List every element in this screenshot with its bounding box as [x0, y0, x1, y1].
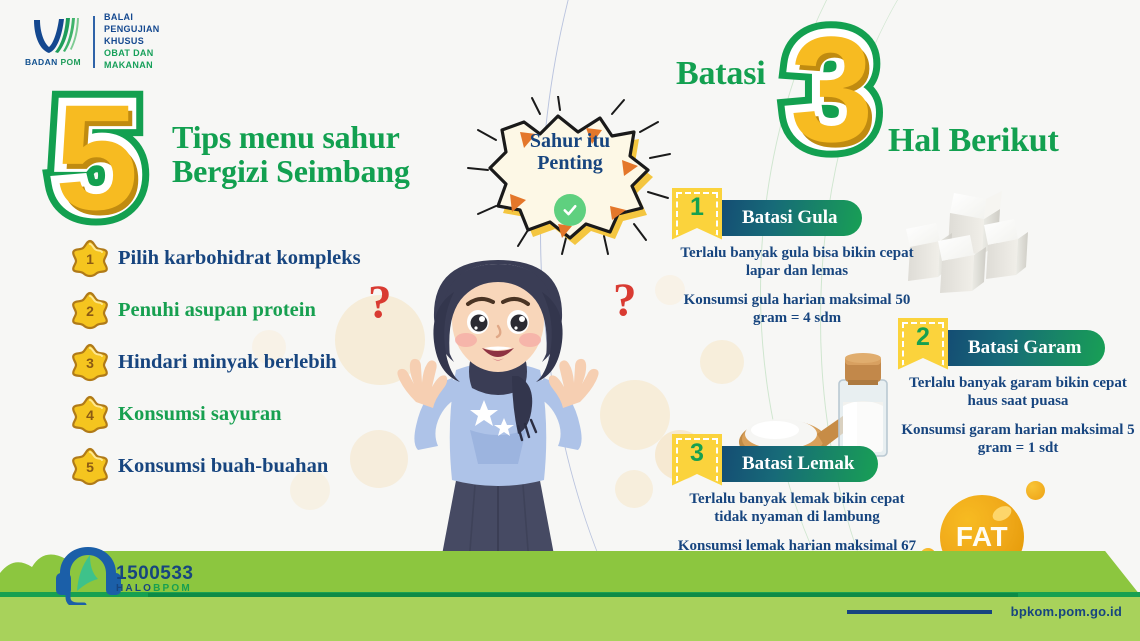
ribbon-number: 3 [690, 441, 704, 466]
limit-body-1: Terlalu banyak gula bisa bikin cepat lap… [672, 245, 922, 327]
star-badge-number: 5 [70, 446, 110, 486]
organization-name: BALAI PENGUJIAN KHUSUS OBAT DAN MAKANAN [104, 12, 160, 71]
left-headline-line-2: Bergizi Seimbang [172, 155, 472, 189]
limit-body-2: Terlalu banyak garam bikin cepat haus sa… [898, 375, 1138, 457]
tip-label: Penuhi asupan protein [118, 299, 316, 322]
star-badge-number: 3 [70, 342, 110, 382]
website-url[interactable]: bpkom.pom.go.id [1011, 604, 1122, 619]
limit-body-text-a: Terlalu banyak garam bikin cepat haus sa… [898, 375, 1138, 410]
big-three-fill: 3 [790, 20, 873, 158]
org-line-4: OBAT DAN [104, 48, 160, 60]
tip-item-4: 4 Konsumsi sayuran [70, 388, 400, 440]
limit-block-1: 1 Batasi Gula Terlalu banyak gula bisa b… [672, 200, 922, 327]
right-headline-after: Hal Berikut [888, 122, 1059, 160]
star-badge-number: 2 [70, 290, 110, 330]
limit-banner-1: 1 Batasi Gula [672, 200, 922, 236]
ribbon-badge-1: 1 [672, 188, 722, 240]
left-headline-line-1: Tips menu sahur [172, 121, 472, 155]
logo-caption-pom: POM [60, 57, 81, 67]
org-line-5: MAKANAN [104, 60, 160, 72]
fat-bubble-small [1026, 481, 1045, 500]
green-rule [148, 593, 1018, 597]
tip-label: Pilih karbohidrat kompleks [118, 247, 361, 270]
footer: 1500533 HALOBPOM bpkom.pom.go.id [0, 536, 1140, 641]
check-circle-icon [554, 194, 586, 226]
logo-caption-badan: BADAN [25, 57, 58, 67]
logo-divider [93, 16, 95, 68]
limit-title-3: Batasi Lemak [716, 446, 878, 482]
hotline-word-halo: HALO [116, 583, 153, 594]
star-badge-icon: 5 [70, 446, 110, 486]
star-badge-number: 4 [70, 394, 110, 434]
limit-body-text-a: Terlalu banyak gula bisa bikin cepat lap… [672, 245, 922, 280]
tip-item-3: 3 Hindari minyak berlebih [70, 336, 400, 388]
org-line-2: PENGUJIAN [104, 24, 160, 36]
infographic-poster: BADAN POM BALAI PENGUJIAN KHUSUS OBAT DA… [0, 0, 1140, 641]
limit-banner-3: 3 Batasi Lemak [672, 446, 922, 482]
hotline-brand: HALOBPOM [116, 583, 192, 594]
tip-label: Konsumsi buah-buahan [118, 455, 328, 478]
limit-banner-2: 2 Batasi Garam [898, 330, 1138, 366]
limit-body-text-a: Terlalu banyak lemak bikin cepat tidak n… [672, 491, 922, 526]
bpom-logo-caption: BADAN POM [25, 57, 81, 67]
check-mark-icon [561, 201, 579, 219]
limit-body-text-b: Konsumsi garam harian maksimal 5 gram = … [898, 422, 1138, 457]
burst-text: Sahur itu Penting [462, 130, 678, 175]
limit-title-2: Batasi Garam [942, 330, 1105, 366]
bpom-logo-mark: BADAN POM [22, 16, 84, 67]
burst-shape-icon [462, 96, 678, 256]
ribbon-number: 1 [690, 195, 704, 220]
tip-item-2: 2 Penuhi asupan protein [70, 284, 400, 336]
bpom-logo: BADAN POM BALAI PENGUJIAN KHUSUS OBAT DA… [22, 12, 160, 71]
hotline-word-bpom: BPOM [153, 583, 192, 594]
org-line-3: KHUSUS [104, 36, 160, 48]
big-five-fill: 5 [55, 88, 138, 226]
right-headline-before: Batasi [676, 55, 765, 93]
star-badge-icon: 2 [70, 290, 110, 330]
tip-item-5: 5 Konsumsi buah-buahan [70, 440, 400, 492]
burst-line-1: Sahur itu [530, 130, 610, 152]
big-number-five: 5 5 5 5 [55, 88, 185, 213]
ribbon-badge-2: 2 [898, 318, 948, 370]
org-line-1: BALAI [104, 12, 160, 24]
limit-block-2: 2 Batasi Garam Terlalu banyak garam biki… [898, 330, 1138, 457]
tip-label: Konsumsi sayuran [118, 403, 281, 426]
limit-title-1: Batasi Gula [716, 200, 862, 236]
star-badge-icon: 3 [70, 342, 110, 382]
website-rule [847, 610, 992, 614]
ribbon-badge-3: 3 [672, 434, 722, 486]
star-badge-number: 1 [70, 238, 110, 278]
tip-item-1: 1 Pilih karbohidrat kompleks [70, 232, 400, 284]
limit-body-text-b: Konsumsi gula harian maksimal 50 gram = … [672, 292, 922, 327]
bpom-checkmark-icon [24, 16, 82, 56]
tips-list: 1 Pilih karbohidrat kompleks 2 Penuhi as… [70, 232, 400, 492]
star-badge-icon: 4 [70, 394, 110, 434]
tip-label: Hindari minyak berlebih [118, 351, 337, 374]
star-badge-icon: 1 [70, 238, 110, 278]
halobpom-hotline: 1500533 HALOBPOM [52, 543, 242, 605]
burst-line-2: Penting [537, 152, 603, 174]
sahur-itu-penting-burst: Sahur itu Penting [462, 96, 678, 256]
ribbon-number: 2 [916, 325, 930, 350]
hotline-number: 1500533 [116, 563, 193, 585]
left-headline: Tips menu sahur Bergizi Seimbang [172, 121, 472, 189]
headset-icon [52, 543, 124, 605]
